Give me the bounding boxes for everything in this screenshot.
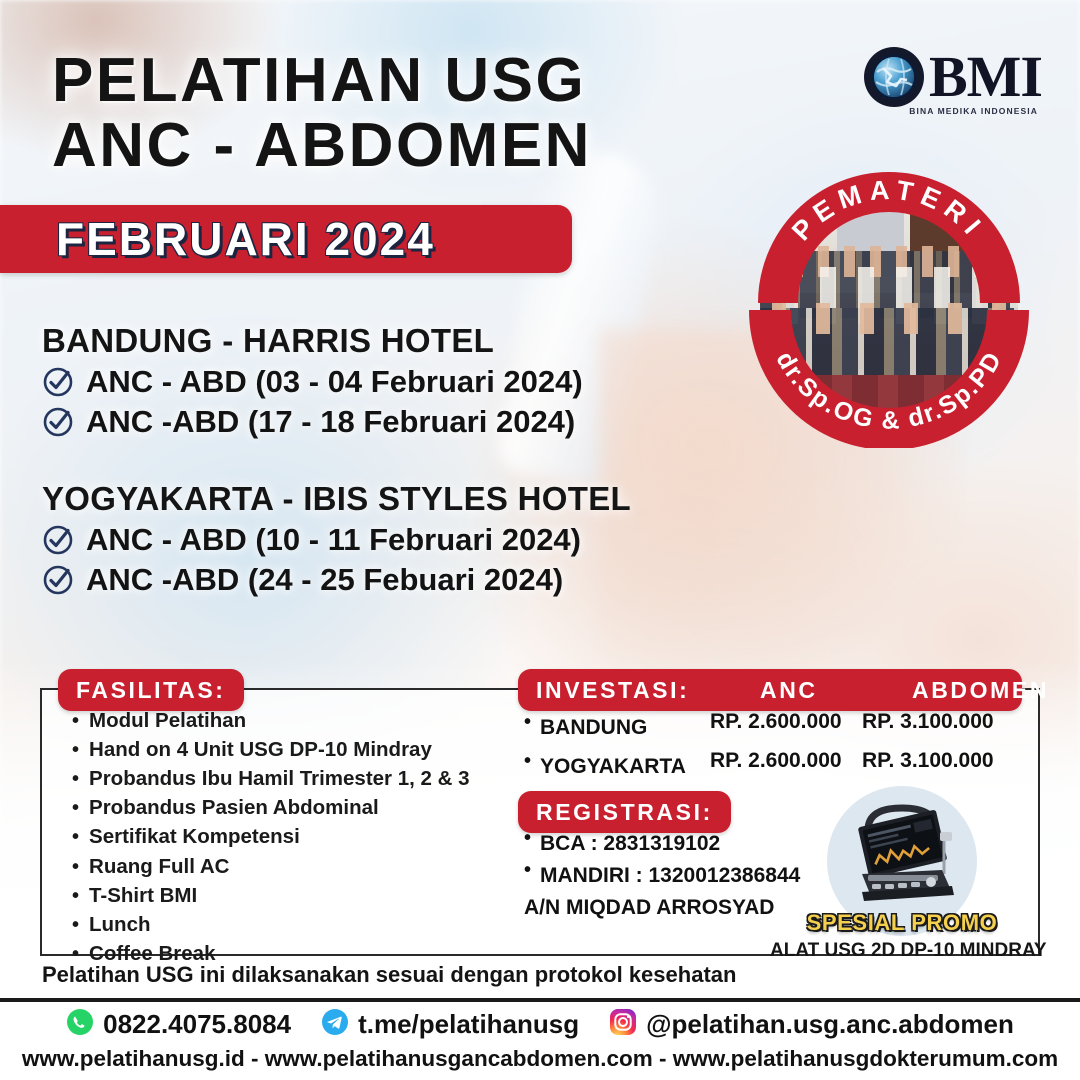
table-row: •YOGYAKARTA RP. 2.600.000 RP. 3.100.000 [524,745,1034,784]
bmi-subtitle: BINA MEDIKA INDONESIA [909,106,1038,116]
session-row: ANC -ABD (17 - 18 Februari 2024) [42,404,722,440]
check-circle-icon [42,564,74,596]
usg-caption: ALAT USG 2D DP-10 MINDRAY [770,940,1034,962]
poster-title: PELATIHAN USG ANC - ABDOMEN [52,48,592,178]
list-item: •Lunch [72,910,502,939]
globe-icon [863,46,925,108]
month-banner: FEBRUARI 2024 [0,205,572,273]
list-item: •T-Shirt BMI [72,881,502,910]
speaker-badge: PEMATERI dr.Sp.OG & dr.Sp.PD [744,158,1034,448]
investment-col-anc: ANC [760,677,818,704]
facility-label: Lunch [89,910,151,939]
bullet-icon: • [72,711,79,731]
venue-group-bandung: BANDUNG - HARRIS HOTEL ANC - ABD (03 - 0… [42,322,722,440]
bullet-icon: • [72,798,79,818]
list-item: •Hand on 4 Unit USG DP-10 Mindray [72,735,502,764]
check-circle-icon [42,406,74,438]
instagram-icon [609,1008,637,1041]
facilities-list: •Modul Pelatihan •Hand on 4 Unit USG DP-… [72,706,502,968]
investment-col-abdomen: ABDOMEN [912,677,1049,704]
footer-divider [0,998,1080,1002]
facility-label: Sertifikat Kompetensi [89,822,300,851]
contact-label: 0822.4075.8084 [103,1009,291,1040]
table-row: •BANDUNG RP. 2.600.000 RP. 3.100.000 [524,706,1034,745]
bullet-icon: • [524,751,531,784]
facility-label: Hand on 4 Unit USG DP-10 Mindray [89,735,432,764]
facility-label: Probandus Ibu Hamil Trimester 1, 2 & 3 [89,764,470,793]
price-table: •BANDUNG RP. 2.600.000 RP. 3.100.000 •YO… [524,706,1034,783]
title-line-2: ANC - ABDOMEN [52,113,592,178]
list-item: •Probandus Pasien Abdominal [72,793,502,822]
schedule-spacer [42,440,722,480]
bullet-icon: • [72,740,79,760]
facility-label: T-Shirt BMI [89,881,197,910]
bullet-icon: • [524,860,531,892]
list-item: •Probandus Ibu Hamil Trimester 1, 2 & 3 [72,764,502,793]
promo-badge: SPESIAL PROMO [770,910,1034,936]
contact-whatsapp[interactable]: 0822.4075.8084 [66,1008,291,1041]
facility-label: Ruang Full AC [89,852,229,881]
bullet-icon: • [72,915,79,935]
registration-heading-label: REGISTRASI: [536,799,713,826]
badge-ribbons: PEMATERI dr.Sp.OG & dr.Sp.PD [744,158,1034,448]
poster-canvas: PELATIHAN USG ANC - ABDOMEN FEBRUARI 202… [0,0,1080,1080]
venue-title: YOGYAKARTA - IBIS STYLES HOTEL [42,480,722,518]
session-row: ANC - ABD (10 - 11 Februari 2024) [42,522,722,558]
schedule-section: BANDUNG - HARRIS HOTEL ANC - ABD (03 - 0… [42,322,722,598]
check-circle-icon [42,524,74,556]
title-line-1: PELATIHAN USG [52,48,592,113]
check-circle-icon [42,366,74,398]
venue-group-yogyakarta: YOGYAKARTA - IBIS STYLES HOTEL ANC - ABD… [42,480,722,598]
session-row: ANC - ABD (03 - 04 Februari 2024) [42,364,722,400]
month-banner-label: FEBRUARI 2024 [56,212,435,266]
bullet-icon: • [72,944,79,964]
venue-title: BANDUNG - HARRIS HOTEL [42,322,722,360]
ultrasound-machine-icon [832,796,972,926]
bullet-icon: • [72,857,79,877]
protocol-note: Pelatihan USG ini dilaksanakan sesuai de… [42,962,736,988]
bmi-logo: BMI BINA MEDIKA INDONESIA [863,46,1042,108]
bullet-icon: • [72,886,79,906]
bullet-icon: • [524,712,531,745]
facility-label: Probandus Pasien Abdominal [89,793,379,822]
contact-telegram[interactable]: t.me/pelatihanusg [321,1008,579,1041]
facilities-heading-label: FASILITAS: [76,677,226,704]
registration-heading-pill: REGISTRASI: [518,791,731,833]
footer-contacts: 0822.4075.8084 t.me/pelatihanusg [0,1008,1080,1041]
price-city-label: BANDUNG [540,712,647,745]
facilities-heading-pill: FASILITAS: [58,669,244,711]
usg-promo-block: SPESIAL PROMO ALAT USG 2D DP-10 MINDRAY [770,786,1034,962]
contact-instagram[interactable]: @pelatihan.usg.anc.abdomen [609,1008,1014,1041]
session-label: ANC -ABD (17 - 18 Februari 2024) [86,404,575,440]
contact-label: @pelatihan.usg.anc.abdomen [646,1009,1014,1040]
price-abdomen-value: RP. 3.100.000 [862,745,1022,778]
session-label: ANC - ABD (03 - 04 Februari 2024) [86,364,583,400]
bank-account-label: MANDIRI : 1320012386844 [540,860,800,892]
footer-websites: www.pelatihanusg.id - www.pelatihanusgan… [0,1046,1080,1072]
bullet-icon: • [72,827,79,847]
list-item: •Sertifikat Kompetensi [72,822,502,851]
whatsapp-icon [66,1008,94,1041]
list-item: •Ruang Full AC [72,852,502,881]
price-anc-value: RP. 2.600.000 [710,745,862,778]
investment-heading-label: INVESTASI: [536,677,689,704]
contact-label: t.me/pelatihanusg [358,1009,579,1040]
bullet-icon: • [72,769,79,789]
session-label: ANC - ABD (10 - 11 Februari 2024) [86,522,581,558]
price-city-label: YOGYAKARTA [540,751,686,784]
session-row: ANC -ABD (24 - 25 Febuari 2024) [42,562,722,598]
investment-heading-pill: INVESTASI: ANC ABDOMEN [518,669,1022,711]
bmi-letters: BMI [929,44,1042,109]
session-label: ANC -ABD (24 - 25 Febuari 2024) [86,562,563,598]
telegram-icon [321,1008,349,1041]
